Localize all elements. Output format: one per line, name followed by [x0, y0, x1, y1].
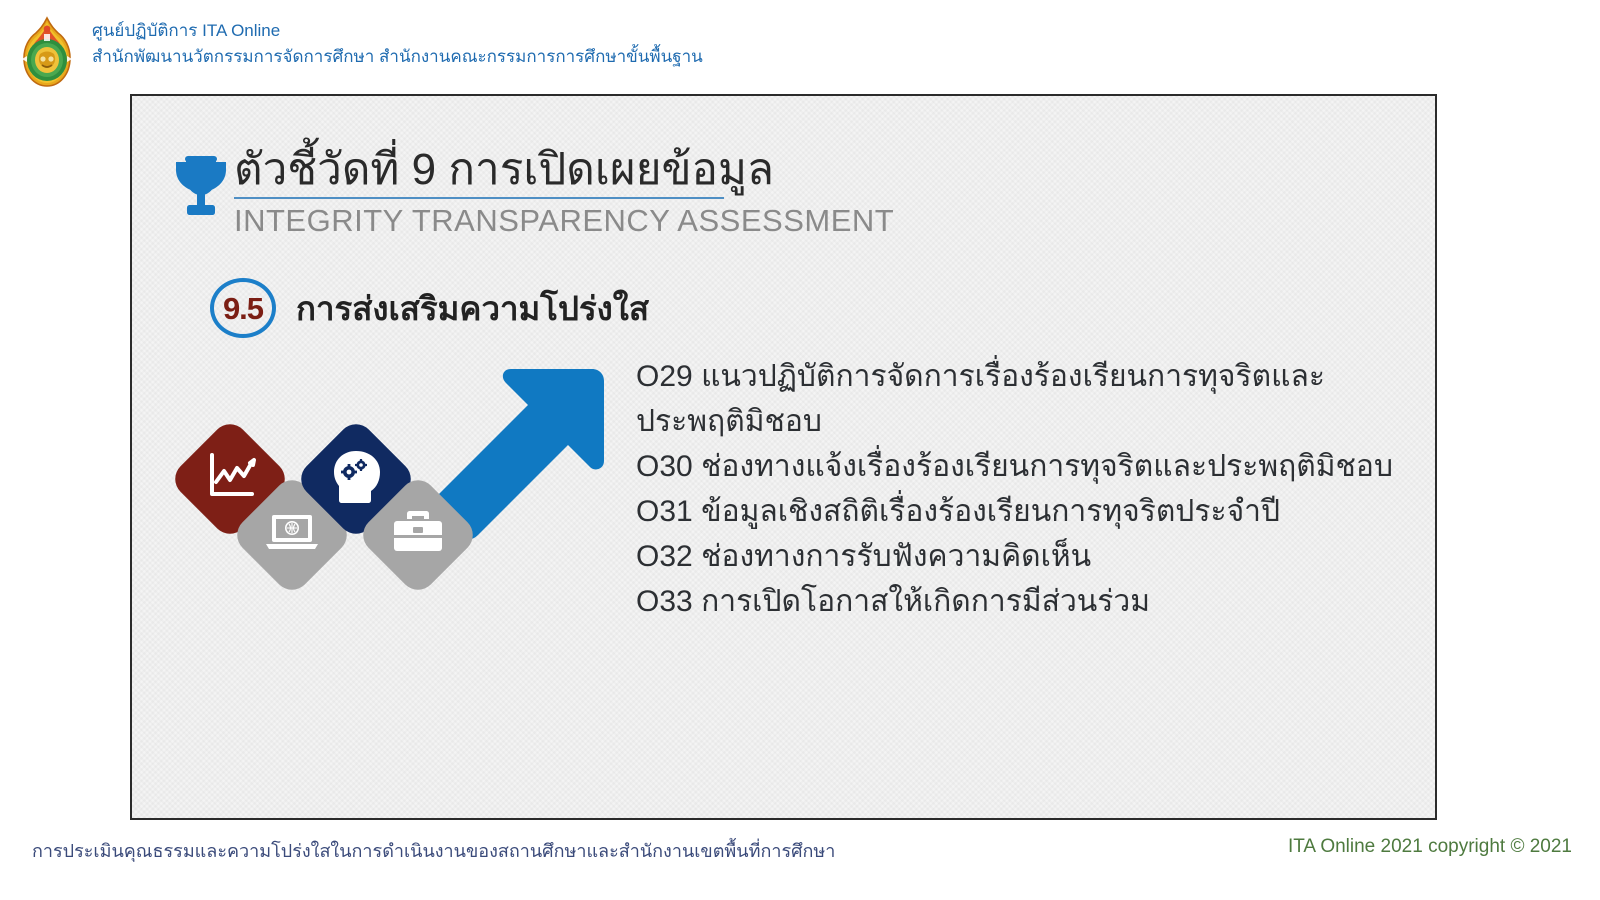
list-item: O30 ช่องทางแจ้งเรื่องร้องเรียนการทุจริตแ… [636, 444, 1408, 489]
list-item: O32 ช่องทางการรับฟังความคิดเห็น [636, 534, 1408, 579]
item-text: ข้อมูลเชิงสถิติเรื่องร้องเรียนการทุจริตป… [701, 495, 1280, 528]
item-code: O30 [636, 450, 693, 483]
page-footer: การประเมินคุณธรรมและความโปร่งใสในการดำเน… [0, 832, 1600, 872]
item-text: ช่องทางแจ้งเรื่องร้องเรียนการทุจริตและปร… [701, 450, 1393, 483]
list-item: O33 การเปิดโอกาสให้เกิดการมีส่วนร่วม [636, 579, 1408, 624]
slide-title-row: ตัวชี้วัดที่ 9 การเปิดเผยข้อมูล INTEGRIT… [170, 144, 894, 241]
obec-emblem-logo [16, 16, 78, 88]
item-code: O32 [636, 540, 693, 573]
item-text: ช่องทางการรับฟังความคิดเห็น [701, 540, 1091, 573]
indicator-number: 9.5 [223, 293, 263, 324]
growth-arrow-diamonds-graphic [172, 351, 622, 611]
header-text-block: ศูนย์ปฏิบัติการ ITA Online สำนักพัฒนานวั… [92, 14, 703, 69]
list-item: O29 แนวปฏิบัติการจัดการเรื่องร้องเรียนกา… [636, 354, 1408, 444]
sub-indicator-row: 9.5 การส่งเสริมความโปร่งใส [210, 278, 649, 338]
indicator-title: การส่งเสริมความโปร่งใส [296, 282, 649, 335]
page-subtitle-en: INTEGRITY TRANSPARENCY ASSESSMENT [234, 201, 894, 241]
item-text: การเปิดโอกาสให้เกิดการมีส่วนร่วม [701, 585, 1150, 618]
slide-frame: ตัวชี้วัดที่ 9 การเปิดเผยข้อมูล INTEGRIT… [130, 94, 1437, 820]
header-title-line1: ศูนย์ปฏิบัติการ ITA Online [92, 19, 703, 43]
indicator-number-badge: 9.5 [210, 278, 276, 338]
slide-title-texts: ตัวชี้วัดที่ 9 การเปิดเผยข้อมูล INTEGRIT… [234, 144, 894, 241]
item-code: O31 [636, 495, 693, 528]
item-code: O29 [636, 360, 693, 393]
title-underline [234, 197, 724, 199]
list-item: O31 ข้อมูลเชิงสถิติเรื่องร้องเรียนการทุจ… [636, 489, 1408, 534]
footer-copyright: ITA Online 2021 copyright © 2021 [1288, 836, 1572, 858]
item-text: แนวปฏิบัติการจัดการเรื่องร้องเรียนการทุจ… [636, 360, 1325, 438]
footer-left-text: การประเมินคุณธรรมและความโปร่งใสในการดำเน… [32, 836, 835, 865]
page-header: ศูนย์ปฏิบัติการ ITA Online สำนักพัฒนานวั… [0, 0, 1600, 90]
header-title-line2: สำนักพัฒนานวัตกรรมการจัดการศึกษา สำนักงา… [92, 45, 703, 69]
page-title: ตัวชี้วัดที่ 9 การเปิดเผยข้อมูล [234, 144, 894, 196]
item-code: O33 [636, 585, 693, 618]
slide-page: ศูนย์ปฏิบัติการ ITA Online สำนักพัฒนานวั… [0, 0, 1600, 900]
disclosure-item-list: O29 แนวปฏิบัติการจัดการเรื่องร้องเรียนกา… [636, 354, 1408, 624]
trophy-icon [170, 152, 232, 220]
